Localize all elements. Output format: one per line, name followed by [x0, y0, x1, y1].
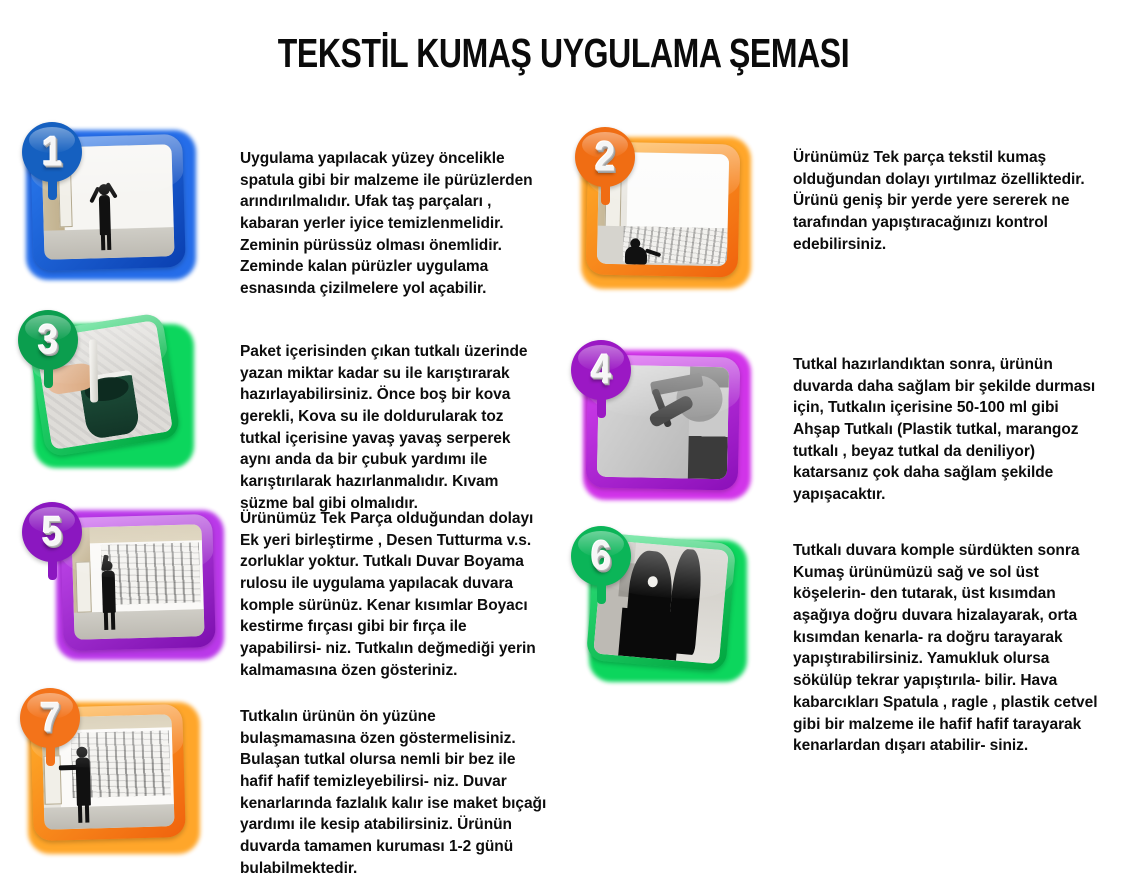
step-number-badge-6: 6	[571, 526, 631, 586]
step-number-badge-2: 2	[575, 127, 635, 187]
step-visual-3: 3	[10, 308, 195, 473]
step-text-6: Tutkalı duvara komple sürdükten sonra Ku…	[793, 540, 1099, 757]
step-number-3: 3	[38, 319, 58, 361]
step-number-badge-3: 3	[18, 310, 78, 370]
step-text-4: Tutkal hazırlandıktan sonra, ürünün duva…	[793, 354, 1101, 506]
step-number-6: 6	[591, 535, 611, 577]
step-text-7: Tutkalın ürünün ön yüzüne bulaşmamasına …	[240, 706, 550, 880]
step-number-1: 1	[42, 131, 62, 173]
step-number-badge-7: 7	[20, 688, 80, 748]
page-title: TEKSTİL KUMAŞ UYGULAMA ŞEMASI	[124, 30, 1003, 77]
step-number-5: 5	[42, 511, 62, 553]
step-number-badge-4: 4	[571, 340, 631, 400]
photo-frame-5	[60, 514, 216, 651]
step-visual-5: 5	[40, 498, 225, 663]
step-visual-4: 4	[565, 338, 750, 503]
step-number-badge-5: 5	[22, 502, 82, 562]
step-visual-2: 2	[565, 125, 750, 290]
step-text-1: Uygulama yapılacak yüzey öncelikle spatu…	[240, 148, 540, 300]
step-text-3: Paket içerisinden çıkan tutkalı üzerinde…	[240, 341, 540, 515]
step-number-2: 2	[595, 136, 615, 178]
step-number-badge-1: 1	[22, 122, 82, 182]
photo-5	[71, 524, 204, 640]
step-text-2: Ürünümüz Tek parça tekstil kumaş olduğun…	[793, 147, 1095, 255]
step-number-4: 4	[591, 349, 611, 391]
step-visual-6: 6	[565, 524, 750, 689]
step-visual-1: 1	[10, 118, 195, 283]
step-visual-7: 7	[10, 688, 195, 853]
step-number-7: 7	[40, 697, 60, 739]
step-text-5: Ürünümüz Tek Parça olduğundan dolayı Ek …	[240, 508, 544, 682]
